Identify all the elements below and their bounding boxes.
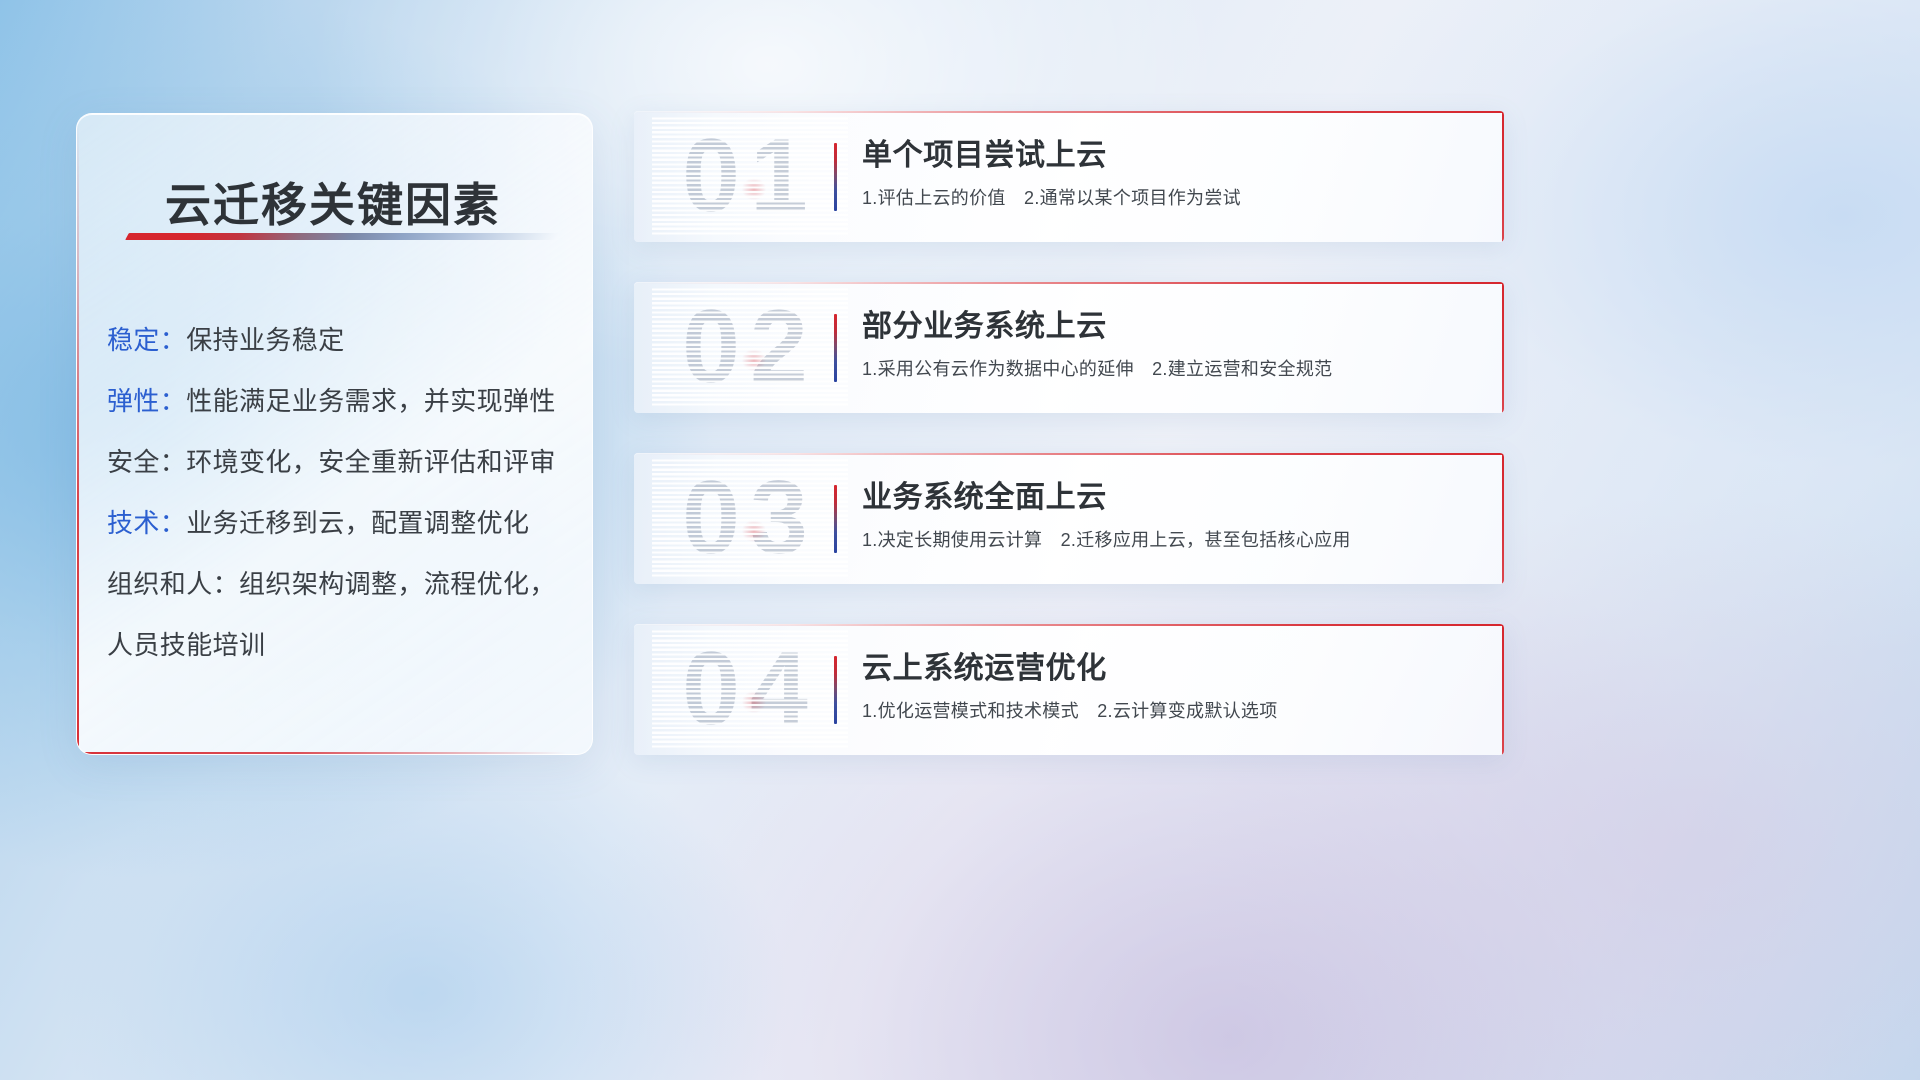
- card-step-number: 03: [652, 457, 848, 579]
- key-factor-item: 安全：环境变化，安全重新评估和评审: [107, 432, 582, 493]
- card-accent-bar: [834, 656, 837, 724]
- card-text-block: 部分业务系统上云1.采用公有云作为数据中心的延伸 2.建立运营和安全规范: [862, 306, 1480, 382]
- card-accent-bar: [834, 143, 837, 211]
- key-factor-item: 人员技能培训: [107, 615, 582, 676]
- card-step-number: 01: [652, 115, 848, 237]
- key-factor-label: 安全：: [107, 447, 186, 477]
- key-factor-label: 组织和人：: [107, 569, 239, 599]
- key-factors-list: 稳定：保持业务稳定弹性：性能满足业务需求，并实现弹性安全：环境变化，安全重新评估…: [107, 310, 582, 676]
- card-title: 云上系统运营优化: [862, 648, 1480, 690]
- card-title: 业务系统全面上云: [862, 477, 1480, 519]
- key-factors-panel: 云迁移关键因素 稳定：保持业务稳定弹性：性能满足业务需求，并实现弹性安全：环境变…: [76, 113, 593, 755]
- title-underline-accent: [125, 233, 559, 240]
- card-description: 1.决定长期使用云计算 2.迁移应用上云，甚至包括核心应用: [862, 527, 1480, 553]
- panel-title: 云迁移关键因素: [165, 169, 501, 235]
- card-description: 1.采用公有云作为数据中心的延伸 2.建立运营和安全规范: [862, 356, 1480, 382]
- key-factor-text: 性能满足业务需求，并实现弹性: [186, 386, 556, 416]
- card-title: 单个项目尝试上云: [862, 135, 1480, 177]
- key-factor-item: 稳定：保持业务稳定: [107, 310, 582, 371]
- card-text-block: 云上系统运营优化1.优化运营模式和技术模式 2.云计算变成默认选项: [862, 648, 1480, 724]
- key-factor-text: 业务迁移到云，配置调整优化: [186, 508, 529, 538]
- slide-canvas: 云迁移关键因素 稳定：保持业务稳定弹性：性能满足业务需求，并实现弹性安全：环境变…: [0, 0, 1920, 1080]
- card-step-number-text: 02: [652, 286, 848, 408]
- key-factor-item: 技术：业务迁移到云，配置调整优化: [107, 493, 582, 554]
- key-factor-text: 保持业务稳定: [186, 325, 344, 355]
- card-step-number-text: 03: [652, 457, 848, 579]
- card-accent-bar: [834, 314, 837, 382]
- card-text-block: 业务系统全面上云1.决定长期使用云计算 2.迁移应用上云，甚至包括核心应用: [862, 477, 1480, 553]
- card-step-number-text: 04: [652, 628, 848, 750]
- key-factor-text: 人员技能培训: [107, 630, 265, 660]
- card-step-number: 04: [652, 628, 848, 750]
- card-accent-bar: [834, 485, 837, 553]
- card-step-number-text: 01: [652, 115, 848, 237]
- stage-card[interactable]: 03业务系统全面上云1.决定长期使用云计算 2.迁移应用上云，甚至包括核心应用: [634, 453, 1504, 584]
- card-text-block: 单个项目尝试上云1.评估上云的价值 2.通常以某个项目作为尝试: [862, 135, 1480, 211]
- stage-card[interactable]: 04云上系统运营优化1.优化运营模式和技术模式 2.云计算变成默认选项: [634, 624, 1504, 755]
- stage-card[interactable]: 02部分业务系统上云1.采用公有云作为数据中心的延伸 2.建立运营和安全规范: [634, 282, 1504, 413]
- card-description: 1.优化运营模式和技术模式 2.云计算变成默认选项: [862, 698, 1480, 724]
- key-factor-label: 稳定：: [107, 325, 186, 355]
- key-factor-label: 技术：: [107, 508, 186, 538]
- key-factor-label: 弹性：: [107, 386, 186, 416]
- key-factor-text: 环境变化，安全重新评估和评审: [186, 447, 556, 477]
- card-step-number: 02: [652, 286, 848, 408]
- key-factor-item: 弹性：性能满足业务需求，并实现弹性: [107, 371, 582, 432]
- stage-card[interactable]: 01单个项目尝试上云1.评估上云的价值 2.通常以某个项目作为尝试: [634, 111, 1504, 242]
- key-factor-text: 组织架构调整，流程优化，: [239, 569, 556, 599]
- card-title: 部分业务系统上云: [862, 306, 1480, 348]
- stage-cards-list: 01单个项目尝试上云1.评估上云的价值 2.通常以某个项目作为尝试02部分业务系…: [634, 111, 1504, 795]
- key-factor-item: 组织和人：组织架构调整，流程优化，: [107, 554, 582, 615]
- card-description: 1.评估上云的价值 2.通常以某个项目作为尝试: [862, 185, 1480, 211]
